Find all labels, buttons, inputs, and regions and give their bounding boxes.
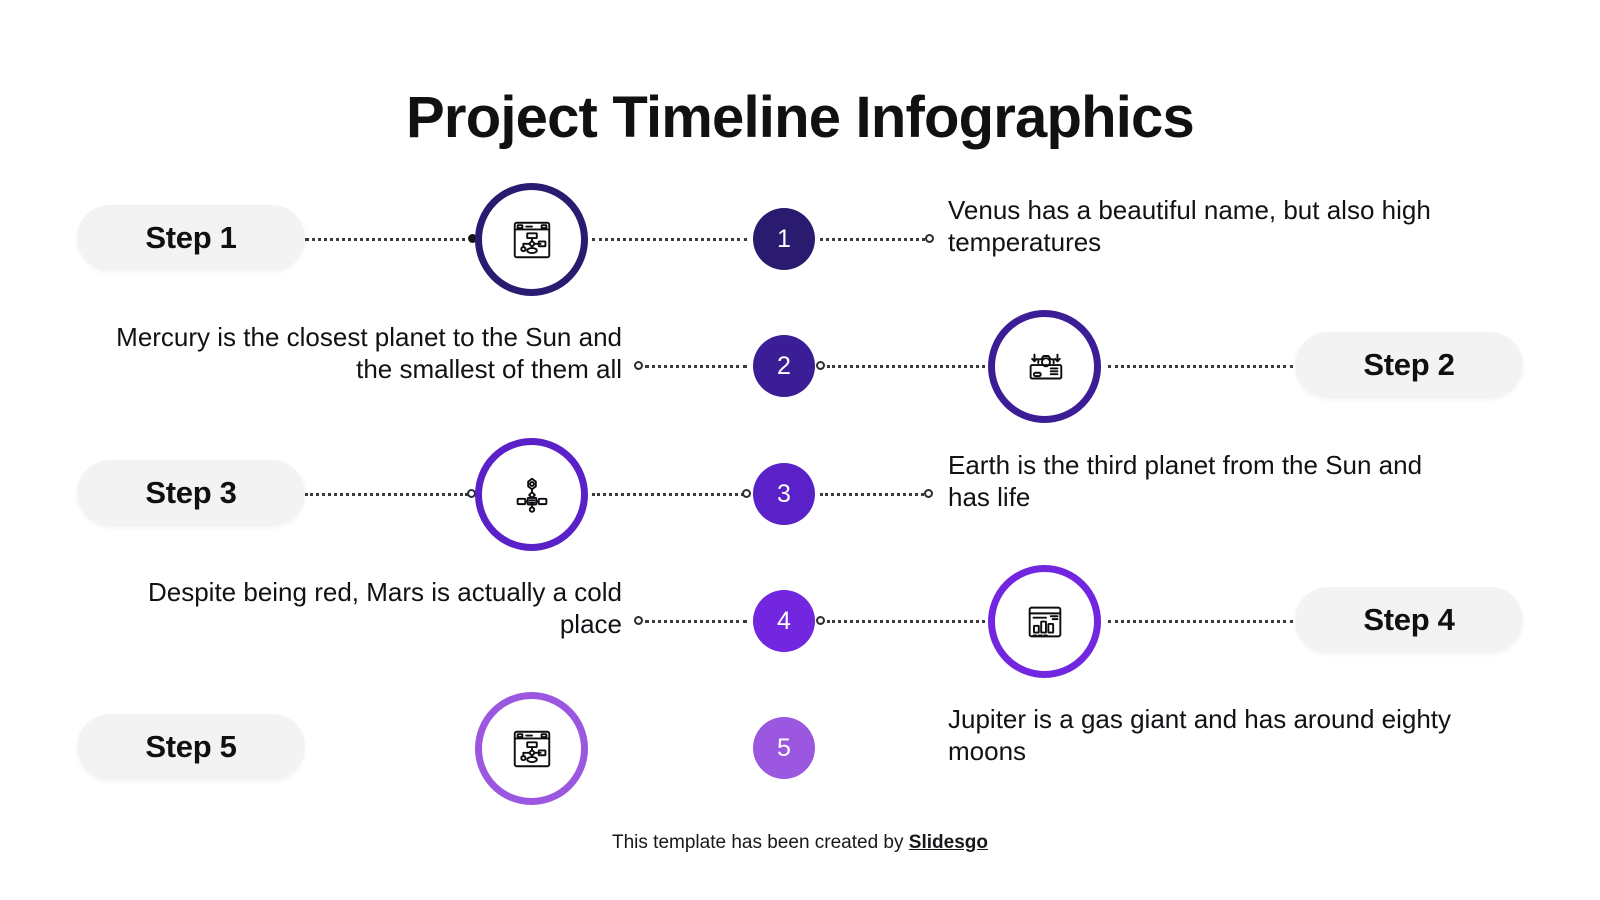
- step-pill-label-5: Step 5: [145, 729, 236, 765]
- connector-node-2a: [634, 361, 643, 370]
- connector-node-3b: [742, 489, 751, 498]
- step-description-5: Jupiter is a gas giant and has around ei…: [948, 704, 1468, 767]
- connector-badge-to-ring-2: [827, 365, 985, 368]
- infographic-slide: Project Timeline Infographics Step 1: [0, 0, 1600, 900]
- connector-badge-to-text-3: [820, 493, 924, 496]
- bar-chart-window-icon: [1022, 599, 1068, 645]
- timeline-row-2: Mercury is the closest planet to the Sun…: [0, 310, 1600, 440]
- step-pill-label-3: Step 3: [145, 475, 236, 511]
- icon-ring-2[interactable]: [988, 310, 1101, 423]
- connector-node-1b: [925, 234, 934, 243]
- timeline-row-4: Despite being red, Mars is actually a co…: [0, 565, 1600, 695]
- step-pill-label-2: Step 2: [1363, 347, 1454, 383]
- step-pill-1[interactable]: Step 1: [77, 205, 305, 271]
- camera-scanner-icon: [1022, 344, 1068, 390]
- process-node-icon: [509, 472, 555, 518]
- flowchart-window-icon: [509, 217, 555, 263]
- icon-ring-3[interactable]: [475, 438, 588, 551]
- connector-node-4b: [816, 616, 825, 625]
- step-number-badge-2[interactable]: 2: [753, 335, 815, 397]
- step-pill-5[interactable]: Step 5: [77, 714, 305, 780]
- footer-prefix: This template has been created by: [612, 832, 909, 853]
- icon-ring-5[interactable]: [475, 692, 588, 805]
- connector-ring-to-pill-2: [1108, 365, 1293, 368]
- step-pill-3[interactable]: Step 3: [77, 460, 305, 526]
- timeline-row-1: Step 1: [0, 183, 1600, 313]
- connector-node-4a: [634, 616, 643, 625]
- timeline-row-3: Step 3: [0, 438, 1600, 568]
- flowchart-window-icon: [509, 726, 555, 772]
- icon-ring-1[interactable]: [475, 183, 588, 296]
- icon-ring-4[interactable]: [988, 565, 1101, 678]
- page-title: Project Timeline Infographics: [0, 84, 1600, 151]
- footer-attribution: This template has been created by Slides…: [0, 832, 1600, 854]
- step-number-label-2: 2: [777, 352, 791, 381]
- step-pill-4[interactable]: Step 4: [1295, 587, 1523, 653]
- connector-text-to-badge-2: [645, 365, 747, 368]
- step-number-label-1: 1: [777, 225, 791, 254]
- step-description-3: Earth is the third planet from the Sun a…: [948, 450, 1468, 513]
- connector-node-3c: [924, 489, 933, 498]
- footer-brand-link[interactable]: Slidesgo: [909, 832, 988, 853]
- connector-pill-to-ring-3: [305, 493, 468, 496]
- step-number-label-4: 4: [777, 607, 791, 636]
- step-pill-2[interactable]: Step 2: [1295, 332, 1523, 398]
- step-number-badge-4[interactable]: 4: [753, 590, 815, 652]
- step-description-2: Mercury is the closest planet to the Sun…: [98, 322, 622, 385]
- connector-node-2b: [816, 361, 825, 370]
- timeline-row-5: Step 5: [0, 692, 1600, 822]
- step-pill-label-4: Step 4: [1363, 602, 1454, 638]
- step-description-1: Venus has a beautiful name, but also hig…: [948, 195, 1468, 258]
- connector-ring-to-badge-3: [592, 493, 744, 496]
- connector-text-to-badge-4: [645, 620, 747, 623]
- connector-ring-to-pill-4: [1108, 620, 1293, 623]
- step-description-4: Despite being red, Mars is actually a co…: [98, 577, 622, 640]
- step-number-badge-3[interactable]: 3: [753, 463, 815, 525]
- step-pill-label-1: Step 1: [145, 220, 236, 256]
- connector-badge-to-ring-4: [827, 620, 985, 623]
- step-number-label-5: 5: [777, 734, 791, 763]
- step-number-label-3: 3: [777, 480, 791, 509]
- connector-pill-to-ring-1: [305, 238, 473, 241]
- step-number-badge-5[interactable]: 5: [753, 717, 815, 779]
- connector-badge-to-text-1: [820, 238, 925, 241]
- step-number-badge-1[interactable]: 1: [753, 208, 815, 270]
- connector-ring-to-badge-1: [592, 238, 747, 241]
